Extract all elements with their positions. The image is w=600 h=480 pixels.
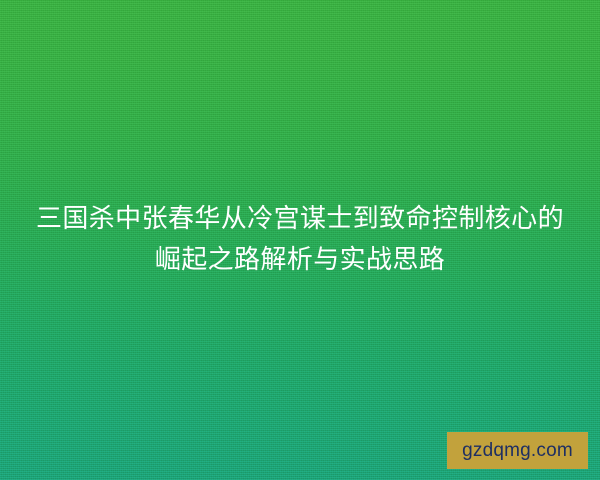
article-title-card: 三国杀中张春华从冷宫谋士到致命控制核心的崛起之路解析与实战思路 gzdqmg.c… — [0, 0, 600, 480]
watermark-badge: gzdqmg.com — [447, 432, 588, 469]
watermark-site-label: gzdqmg.com — [462, 441, 573, 460]
title-block: 三国杀中张春华从冷宫谋士到致命控制核心的崛起之路解析与实战思路 — [0, 198, 600, 280]
page-title: 三国杀中张春华从冷宫谋士到致命控制核心的崛起之路解析与实战思路 — [24, 198, 576, 280]
